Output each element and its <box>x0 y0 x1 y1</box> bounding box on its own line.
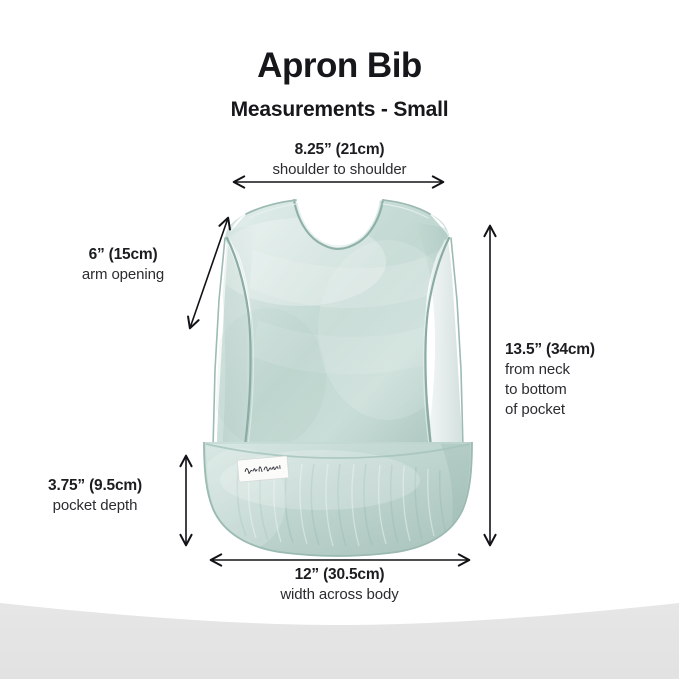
measurement-value: 6” (15cm) <box>28 245 218 265</box>
measurement-shoulder-to-shoulder: 8.25” (21cm) shoulder to shoulder <box>0 140 679 180</box>
bottom-curve-band <box>0 603 679 679</box>
measurement-label-line-1: from neck <box>505 360 675 380</box>
measurement-width-across-body: 12” (30.5cm) width across body <box>0 565 679 605</box>
measurement-label: pocket depth <box>10 496 180 516</box>
bib-body <box>205 196 474 452</box>
measurement-value: 8.25” (21cm) <box>0 140 679 160</box>
measurement-label: width across body <box>0 585 679 605</box>
brand-label <box>237 456 289 482</box>
measurement-neck-to-bottom-of-pocket: 13.5” (34cm) from neck to bottom of pock… <box>505 340 675 420</box>
measurement-label-line-2: to bottom <box>505 380 675 400</box>
measurement-label: arm opening <box>28 265 218 285</box>
measurement-label: shoulder to shoulder <box>0 160 679 180</box>
measurement-value: 13.5” (34cm) <box>505 340 675 360</box>
measurement-pocket-depth: 3.75” (9.5cm) pocket depth <box>10 476 180 516</box>
measurement-label-line-3: of pocket <box>505 400 675 420</box>
measurement-value: 3.75” (9.5cm) <box>10 476 180 496</box>
measurement-value: 12” (30.5cm) <box>0 565 679 585</box>
measurement-diagram: Apron Bib Measurements - Small <box>0 0 679 679</box>
measurement-arm-opening: 6” (15cm) arm opening <box>28 245 218 285</box>
bib-pocket <box>194 440 474 560</box>
